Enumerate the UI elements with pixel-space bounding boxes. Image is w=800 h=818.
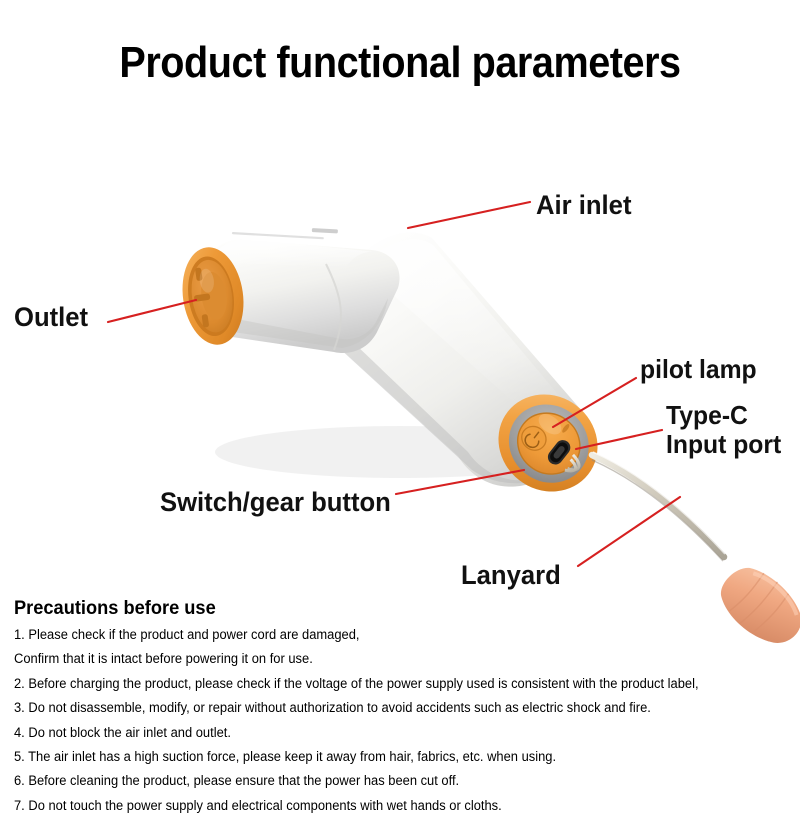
callout-outlet: Outlet <box>14 302 88 332</box>
callout-type-c-input-port: Type-C Input port <box>666 401 781 459</box>
precautions-section: Precautions before use 1. Please check i… <box>14 598 800 818</box>
precaution-item: 2. Before charging the product, please c… <box>14 672 772 696</box>
body-print-text <box>232 228 338 239</box>
precaution-item: 1. Please check if the product and power… <box>14 623 772 647</box>
callout-type-c-line1: Type-C <box>666 401 781 430</box>
leader-air-inlet <box>408 202 530 228</box>
precaution-item: 5. The air inlet has a high suction forc… <box>14 745 772 769</box>
callout-air-inlet: Air inlet <box>536 190 631 220</box>
precaution-item: Confirm that it is intact before powerin… <box>14 647 772 671</box>
precaution-item: 4. Do not block the air inlet and outlet… <box>14 721 772 745</box>
precaution-item: 6. Before cleaning the product, please e… <box>14 769 772 793</box>
callout-pilot-lamp: pilot lamp <box>640 355 757 384</box>
callout-switch-gear-button: Switch/gear button <box>160 487 391 517</box>
lanyard-cord <box>592 452 725 561</box>
callout-lanyard: Lanyard <box>461 560 561 590</box>
leader-outlet <box>108 300 196 322</box>
callout-type-c-line2: Input port <box>666 430 781 459</box>
product-parameters-page: Product functional parameters <box>0 0 800 800</box>
leader-lanyard <box>578 497 680 566</box>
precaution-item: 3. Do not disassemble, modify, or repair… <box>14 696 772 720</box>
precautions-heading: Precautions before use <box>14 598 769 620</box>
precaution-item: 7. Do not touch the power supply and ele… <box>14 794 772 818</box>
